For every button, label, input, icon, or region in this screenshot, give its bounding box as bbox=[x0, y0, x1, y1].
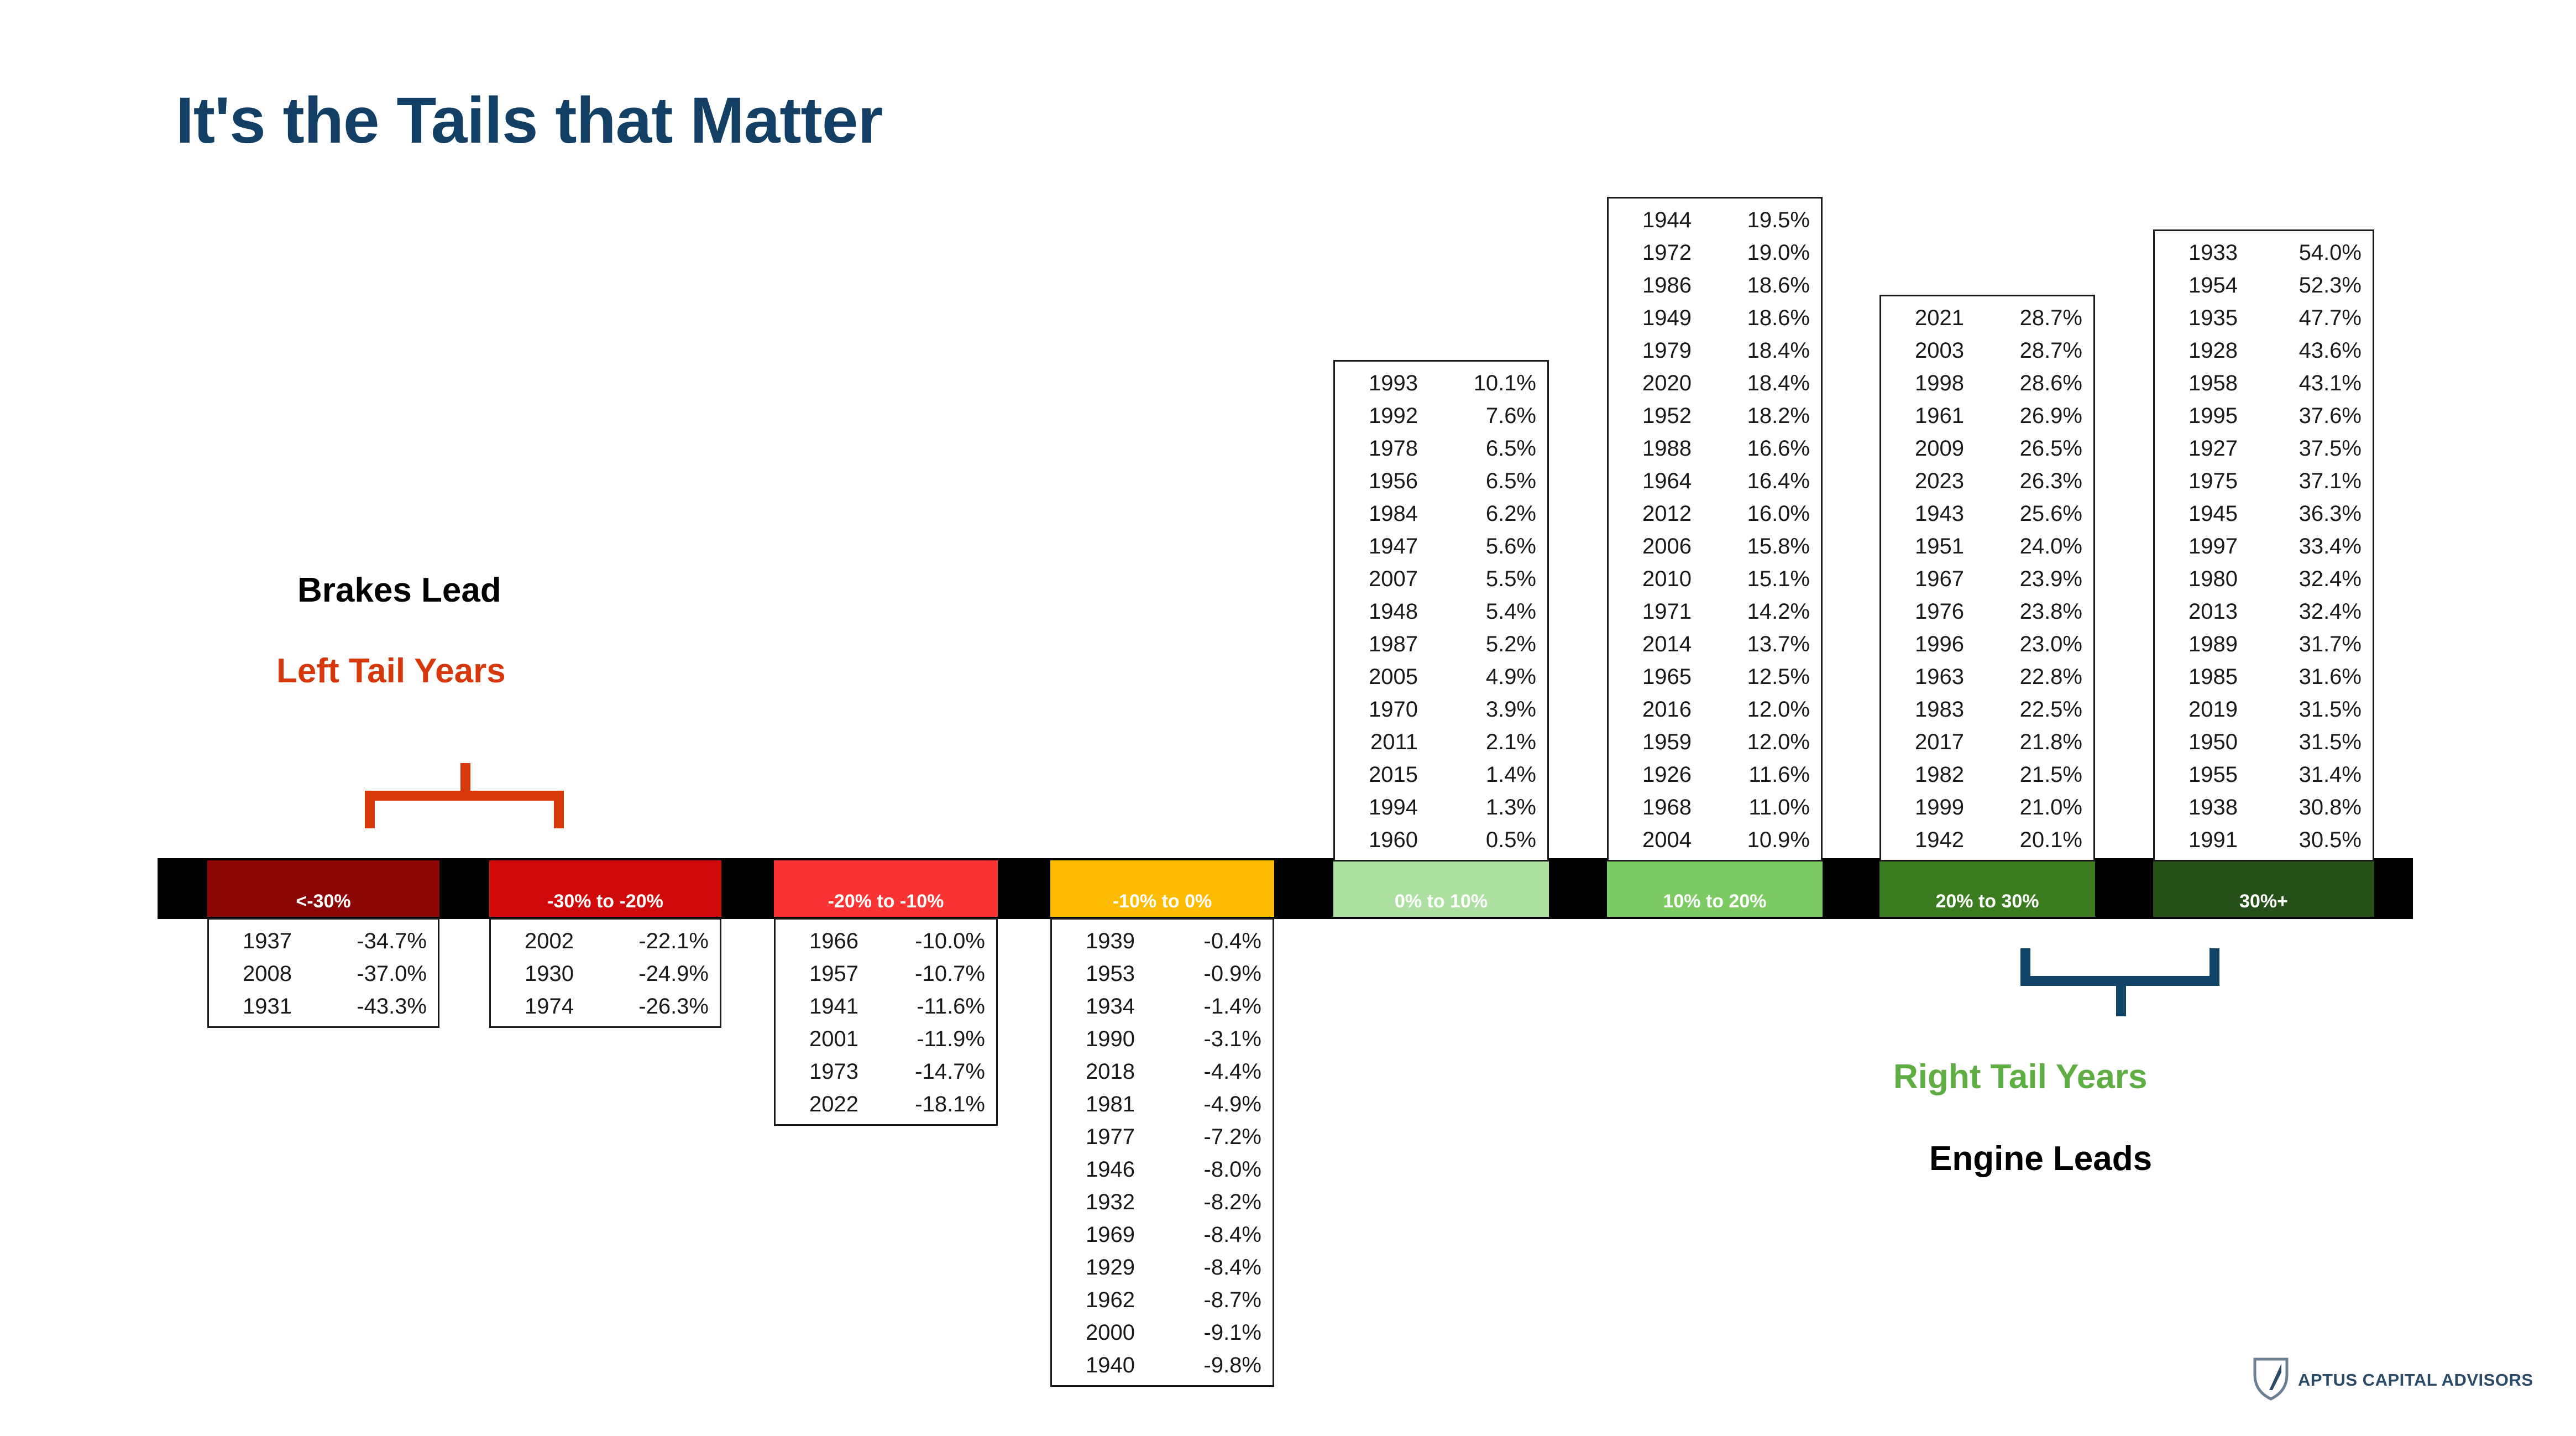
return-cell: 3.9% bbox=[1442, 693, 1536, 726]
list-item: 197537.1% bbox=[2166, 465, 2362, 498]
annotation-left-tail-years: Left Tail Years bbox=[276, 651, 506, 691]
list-item: 20151.4% bbox=[1346, 759, 1536, 791]
list-item: 202018.4% bbox=[1620, 367, 1810, 400]
list-item: 1977-7.2% bbox=[1063, 1121, 1261, 1153]
list-item: 198322.5% bbox=[1892, 693, 2082, 726]
bucket-year-list-6: 194419.5%197219.0%198618.6%194918.6%1979… bbox=[1607, 197, 1823, 861]
list-item: 2008-37.0% bbox=[220, 958, 427, 990]
year-cell: 1930 bbox=[502, 958, 574, 990]
year-cell: 2021 bbox=[1892, 302, 1964, 335]
year-cell: 1979 bbox=[1620, 335, 1692, 367]
year-cell: 2019 bbox=[2166, 693, 2238, 726]
return-cell: -8.4% bbox=[1167, 1251, 1261, 1284]
list-item: 200328.7% bbox=[1892, 335, 2082, 367]
return-cell: 5.5% bbox=[1442, 563, 1536, 596]
return-cell: 23.9% bbox=[1988, 563, 2082, 596]
return-cell: 5.4% bbox=[1442, 596, 1536, 628]
year-cell: 1969 bbox=[1063, 1219, 1135, 1251]
list-item: 201721.8% bbox=[1892, 726, 2082, 759]
year-cell: 2017 bbox=[1892, 726, 1964, 759]
return-cell: 19.0% bbox=[1716, 237, 1810, 269]
year-cell: 1950 bbox=[2166, 726, 2238, 759]
page-title: It's the Tails that Matter bbox=[176, 83, 882, 158]
year-cell: 1973 bbox=[787, 1056, 858, 1088]
year-cell: 1956 bbox=[1346, 465, 1418, 498]
return-cell: -18.1% bbox=[891, 1088, 985, 1121]
list-item: 1969-8.4% bbox=[1063, 1219, 1261, 1251]
year-cell: 1971 bbox=[1620, 596, 1692, 628]
list-item: 1974-26.3% bbox=[502, 990, 709, 1023]
list-item: 19846.2% bbox=[1346, 498, 1536, 530]
year-cell: 1962 bbox=[1063, 1284, 1135, 1317]
return-cell: -22.1% bbox=[615, 925, 709, 958]
year-cell: 1928 bbox=[2166, 335, 2238, 367]
bucket-block-6[interactable]: 10% to 20% bbox=[1607, 860, 1823, 917]
return-cell: 7.6% bbox=[1442, 400, 1536, 432]
list-item: 200615.8% bbox=[1620, 530, 1810, 563]
year-cell: 2023 bbox=[1892, 465, 1964, 498]
return-cell: 10.1% bbox=[1442, 367, 1536, 400]
year-cell: 1982 bbox=[1892, 759, 1964, 791]
return-cell: -14.7% bbox=[891, 1056, 985, 1088]
bucket-block-2[interactable]: -30% to -20% bbox=[489, 860, 721, 917]
list-item: 20075.5% bbox=[1346, 563, 1536, 596]
return-cell: 16.0% bbox=[1716, 498, 1810, 530]
year-cell: 2014 bbox=[1620, 628, 1692, 661]
list-item: 201931.5% bbox=[2166, 693, 2362, 726]
year-cell: 1960 bbox=[1346, 824, 1418, 857]
year-cell: 1985 bbox=[2166, 661, 2238, 693]
return-cell: 15.1% bbox=[1716, 563, 1810, 596]
year-cell: 2002 bbox=[502, 925, 574, 958]
return-cell: 31.6% bbox=[2268, 661, 2362, 693]
return-cell: -8.4% bbox=[1167, 1219, 1261, 1251]
list-item: 1939-0.4% bbox=[1063, 925, 1261, 958]
return-cell: 16.4% bbox=[1716, 465, 1810, 498]
return-cell: 22.5% bbox=[1988, 693, 2082, 726]
return-cell: 18.6% bbox=[1716, 302, 1810, 335]
list-item: 195843.1% bbox=[2166, 367, 2362, 400]
list-item: 201413.7% bbox=[1620, 628, 1810, 661]
list-item: 19875.2% bbox=[1346, 628, 1536, 661]
return-cell: 21.0% bbox=[1988, 791, 2082, 824]
return-cell: 28.7% bbox=[1988, 302, 2082, 335]
year-cell: 1964 bbox=[1620, 465, 1692, 498]
return-cell: 11.0% bbox=[1716, 791, 1810, 824]
year-cell: 1944 bbox=[1620, 204, 1692, 237]
list-item: 20054.9% bbox=[1346, 661, 1536, 693]
year-cell: 1992 bbox=[1346, 400, 1418, 432]
aptus-logo: APTUS CAPITAL ADVISORS bbox=[2253, 1356, 2533, 1404]
list-item: 201015.1% bbox=[1620, 563, 1810, 596]
year-cell: 2012 bbox=[1620, 498, 1692, 530]
year-cell: 2009 bbox=[1892, 432, 1964, 465]
bucket-label: -30% to -20% bbox=[547, 891, 663, 912]
return-cell: -34.7% bbox=[333, 925, 427, 958]
return-cell: 5.2% bbox=[1442, 628, 1536, 661]
list-item: 1946-8.0% bbox=[1063, 1153, 1261, 1186]
list-item: 199130.5% bbox=[2166, 824, 2362, 857]
return-cell: 0.5% bbox=[1442, 824, 1536, 857]
list-item: 195452.3% bbox=[2166, 269, 2362, 302]
return-cell: 31.5% bbox=[2268, 693, 2362, 726]
return-cell: 12.5% bbox=[1716, 661, 1810, 693]
list-item: 194220.1% bbox=[1892, 824, 2082, 857]
return-cell: 30.8% bbox=[2268, 791, 2362, 824]
year-cell: 1941 bbox=[787, 990, 858, 1023]
list-item: 2018-4.4% bbox=[1063, 1056, 1261, 1088]
year-cell: 1984 bbox=[1346, 498, 1418, 530]
return-cell: -26.3% bbox=[615, 990, 709, 1023]
list-item: 193547.7% bbox=[2166, 302, 2362, 335]
return-cell: -1.4% bbox=[1167, 990, 1261, 1023]
list-item: 194419.5% bbox=[1620, 204, 1810, 237]
list-item: 197918.4% bbox=[1620, 335, 1810, 367]
return-cell: 1.3% bbox=[1442, 791, 1536, 824]
bucket-label: 30%+ bbox=[2239, 891, 2288, 912]
return-cell: 21.8% bbox=[1988, 726, 2082, 759]
list-item: 195531.4% bbox=[2166, 759, 2362, 791]
year-cell: 2006 bbox=[1620, 530, 1692, 563]
return-cell: 4.9% bbox=[1442, 661, 1536, 693]
year-cell: 1946 bbox=[1063, 1153, 1135, 1186]
year-cell: 1980 bbox=[2166, 563, 2238, 596]
bucket-block-3[interactable]: -20% to -10% bbox=[774, 860, 998, 917]
year-cell: 1977 bbox=[1063, 1121, 1135, 1153]
return-cell: -0.9% bbox=[1167, 958, 1261, 990]
year-cell: 2013 bbox=[2166, 596, 2238, 628]
list-item: 197219.0% bbox=[1620, 237, 1810, 269]
return-cell: 31.7% bbox=[2268, 628, 2362, 661]
return-cell: 15.8% bbox=[1716, 530, 1810, 563]
return-cell: 54.0% bbox=[2268, 237, 2362, 269]
list-item: 19600.5% bbox=[1346, 824, 1536, 857]
list-item: 19475.6% bbox=[1346, 530, 1536, 563]
list-item: 199733.4% bbox=[2166, 530, 2362, 563]
list-item: 198816.6% bbox=[1620, 432, 1810, 465]
list-item: 196416.4% bbox=[1620, 465, 1810, 498]
return-cell: -8.0% bbox=[1167, 1153, 1261, 1186]
list-item: 192737.5% bbox=[2166, 432, 2362, 465]
year-cell: 1932 bbox=[1063, 1186, 1135, 1219]
bucket-year-list-7: 202128.7%200328.7%199828.6%196126.9%2009… bbox=[1879, 295, 2095, 861]
list-item: 1930-24.9% bbox=[502, 958, 709, 990]
year-cell: 1966 bbox=[787, 925, 858, 958]
year-cell: 1986 bbox=[1620, 269, 1692, 302]
year-cell: 2020 bbox=[1620, 367, 1692, 400]
return-cell: -0.4% bbox=[1167, 925, 1261, 958]
year-cell: 1990 bbox=[1063, 1023, 1135, 1056]
list-item: 198032.4% bbox=[2166, 563, 2362, 596]
year-cell: 1927 bbox=[2166, 432, 2238, 465]
list-item: 194918.6% bbox=[1620, 302, 1810, 335]
list-item: 199828.6% bbox=[1892, 367, 2082, 400]
year-cell: 2016 bbox=[1620, 693, 1692, 726]
year-cell: 1998 bbox=[1892, 367, 1964, 400]
bucket-block-1[interactable]: <-30% bbox=[207, 860, 439, 917]
list-item: 19703.9% bbox=[1346, 693, 1536, 726]
return-cell: 20.1% bbox=[1988, 824, 2082, 857]
bucket-year-list-1: 1937-34.7%2008-37.0%1931-43.3% bbox=[207, 918, 439, 1028]
year-cell: 2018 bbox=[1063, 1056, 1135, 1088]
return-cell: 43.6% bbox=[2268, 335, 2362, 367]
year-cell: 2015 bbox=[1346, 759, 1418, 791]
list-item: 1990-3.1% bbox=[1063, 1023, 1261, 1056]
list-item: 1962-8.7% bbox=[1063, 1284, 1261, 1317]
bucket-label: -20% to -10% bbox=[828, 891, 944, 912]
return-cell: 31.5% bbox=[2268, 726, 2362, 759]
year-cell: 1968 bbox=[1620, 791, 1692, 824]
annotation-engine-leads: Engine Leads bbox=[1929, 1139, 2152, 1178]
year-cell: 2007 bbox=[1346, 563, 1418, 596]
year-cell: 1954 bbox=[2166, 269, 2238, 302]
year-cell: 1993 bbox=[1346, 367, 1418, 400]
year-cell: 1943 bbox=[1892, 498, 1964, 530]
list-item: 198618.6% bbox=[1620, 269, 1810, 302]
list-item: 199921.0% bbox=[1892, 791, 2082, 824]
list-item: 199623.0% bbox=[1892, 628, 2082, 661]
list-item: 201332.4% bbox=[2166, 596, 2362, 628]
year-cell: 1947 bbox=[1346, 530, 1418, 563]
list-item: 1973-14.7% bbox=[787, 1056, 985, 1088]
list-item: 1941-11.6% bbox=[787, 990, 985, 1023]
return-cell: 18.4% bbox=[1716, 335, 1810, 367]
year-cell: 1952 bbox=[1620, 400, 1692, 432]
right-bracket-stem-icon bbox=[2116, 984, 2126, 1016]
year-cell: 1970 bbox=[1346, 693, 1418, 726]
list-item: 1929-8.4% bbox=[1063, 1251, 1261, 1284]
year-cell: 1981 bbox=[1063, 1088, 1135, 1121]
list-item: 202326.3% bbox=[1892, 465, 2082, 498]
return-cell: -43.3% bbox=[333, 990, 427, 1023]
list-item: 2001-11.9% bbox=[787, 1023, 985, 1056]
return-cell: 52.3% bbox=[2268, 269, 2362, 302]
list-item: 2022-18.1% bbox=[787, 1088, 985, 1121]
list-item: 19786.5% bbox=[1346, 432, 1536, 465]
return-cell: 11.6% bbox=[1716, 759, 1810, 791]
list-item: 2000-9.1% bbox=[1063, 1317, 1261, 1349]
return-cell: 33.4% bbox=[2268, 530, 2362, 563]
list-item: 1934-1.4% bbox=[1063, 990, 1261, 1023]
return-cell: 23.8% bbox=[1988, 596, 2082, 628]
shield-icon bbox=[2253, 1356, 2289, 1404]
year-cell: 1958 bbox=[2166, 367, 2238, 400]
year-cell: 1974 bbox=[502, 990, 574, 1023]
list-item: 200926.5% bbox=[1892, 432, 2082, 465]
year-cell: 1988 bbox=[1620, 432, 1692, 465]
list-item: 201612.0% bbox=[1620, 693, 1810, 726]
left-bracket-stem-icon bbox=[460, 763, 470, 795]
bucket-block-8[interactable]: 30%+ bbox=[2153, 860, 2374, 917]
list-item: 197623.8% bbox=[1892, 596, 2082, 628]
return-cell: 1.4% bbox=[1442, 759, 1536, 791]
year-cell: 1967 bbox=[1892, 563, 1964, 596]
return-cell: 10.9% bbox=[1716, 824, 1810, 857]
return-cell: -24.9% bbox=[615, 958, 709, 990]
year-cell: 1991 bbox=[2166, 824, 2238, 857]
list-item: 196322.8% bbox=[1892, 661, 2082, 693]
bucket-year-list-3: 1966-10.0%1957-10.7%1941-11.6%2001-11.9%… bbox=[774, 918, 998, 1126]
return-cell: 13.7% bbox=[1716, 628, 1810, 661]
return-cell: 18.2% bbox=[1716, 400, 1810, 432]
list-item: 194325.6% bbox=[1892, 498, 2082, 530]
year-cell: 1953 bbox=[1063, 958, 1135, 990]
return-cell: 26.3% bbox=[1988, 465, 2082, 498]
list-item: 1957-10.7% bbox=[787, 958, 985, 990]
list-item: 196723.9% bbox=[1892, 563, 2082, 596]
return-cell: 14.2% bbox=[1716, 596, 1810, 628]
return-cell: 37.6% bbox=[2268, 400, 2362, 432]
return-cell: -8.2% bbox=[1167, 1186, 1261, 1219]
list-item: 2002-22.1% bbox=[502, 925, 709, 958]
list-item: 198931.7% bbox=[2166, 628, 2362, 661]
list-item: 192611.6% bbox=[1620, 759, 1810, 791]
bucket-block-5[interactable]: 0% to 10% bbox=[1333, 860, 1549, 917]
year-cell: 2005 bbox=[1346, 661, 1418, 693]
return-cell: 16.6% bbox=[1716, 432, 1810, 465]
list-item: 197114.2% bbox=[1620, 596, 1810, 628]
list-item: 1953-0.9% bbox=[1063, 958, 1261, 990]
year-cell: 2001 bbox=[787, 1023, 858, 1056]
right-bracket-icon bbox=[2020, 948, 2219, 986]
year-cell: 1965 bbox=[1620, 661, 1692, 693]
return-cell: -9.1% bbox=[1167, 1317, 1261, 1349]
year-cell: 1949 bbox=[1620, 302, 1692, 335]
list-item: 196512.5% bbox=[1620, 661, 1810, 693]
list-item: 196126.9% bbox=[1892, 400, 2082, 432]
list-item: 195124.0% bbox=[1892, 530, 2082, 563]
year-cell: 1929 bbox=[1063, 1251, 1135, 1284]
year-cell: 1942 bbox=[1892, 824, 1964, 857]
list-item: 1966-10.0% bbox=[787, 925, 985, 958]
year-cell: 1987 bbox=[1346, 628, 1418, 661]
list-item: 19485.4% bbox=[1346, 596, 1536, 628]
return-cell: 18.6% bbox=[1716, 269, 1810, 302]
list-item: 1981-4.9% bbox=[1063, 1088, 1261, 1121]
list-item: 199310.1% bbox=[1346, 367, 1536, 400]
return-cell: 25.6% bbox=[1988, 498, 2082, 530]
return-cell: -7.2% bbox=[1167, 1121, 1261, 1153]
list-item: 195031.5% bbox=[2166, 726, 2362, 759]
year-cell: 1940 bbox=[1063, 1349, 1135, 1382]
bucket-block-4[interactable]: -10% to 0% bbox=[1050, 860, 1274, 917]
list-item: 19927.6% bbox=[1346, 400, 1536, 432]
list-item: 1931-43.3% bbox=[220, 990, 427, 1023]
bucket-year-list-2: 2002-22.1%1930-24.9%1974-26.3% bbox=[489, 918, 721, 1028]
return-cell: 47.7% bbox=[2268, 302, 2362, 335]
list-item: 198221.5% bbox=[1892, 759, 2082, 791]
return-cell: -8.7% bbox=[1167, 1284, 1261, 1317]
year-cell: 1989 bbox=[2166, 628, 2238, 661]
return-cell: 12.0% bbox=[1716, 726, 1810, 759]
list-item: 196811.0% bbox=[1620, 791, 1810, 824]
bucket-label: 20% to 30% bbox=[1935, 891, 2039, 912]
bucket-year-list-4: 1939-0.4%1953-0.9%1934-1.4%1990-3.1%2018… bbox=[1050, 918, 1274, 1387]
return-cell: 31.4% bbox=[2268, 759, 2362, 791]
bucket-block-7[interactable]: 20% to 30% bbox=[1879, 860, 2095, 917]
year-cell: 1939 bbox=[1063, 925, 1135, 958]
list-item: 195912.0% bbox=[1620, 726, 1810, 759]
return-cell: 6.5% bbox=[1442, 432, 1536, 465]
return-cell: 21.5% bbox=[1988, 759, 2082, 791]
year-cell: 1999 bbox=[1892, 791, 1964, 824]
return-cell: 32.4% bbox=[2268, 596, 2362, 628]
bucket-year-list-8: 193354.0%195452.3%193547.7%192843.6%1958… bbox=[2153, 229, 2374, 861]
bucket-label: 10% to 20% bbox=[1663, 891, 1766, 912]
list-item: 1940-9.8% bbox=[1063, 1349, 1261, 1382]
year-cell: 2008 bbox=[220, 958, 292, 990]
list-item: 200410.9% bbox=[1620, 824, 1810, 857]
annotation-brakes-lead: Brakes Lead bbox=[297, 571, 501, 610]
return-cell: 28.6% bbox=[1988, 367, 2082, 400]
bucket-label: 0% to 10% bbox=[1395, 891, 1488, 912]
return-cell: 37.5% bbox=[2268, 432, 2362, 465]
return-cell: 43.1% bbox=[2268, 367, 2362, 400]
return-cell: 6.2% bbox=[1442, 498, 1536, 530]
year-cell: 1963 bbox=[1892, 661, 1964, 693]
year-cell: 1931 bbox=[220, 990, 292, 1023]
return-cell: -3.1% bbox=[1167, 1023, 1261, 1056]
list-item: 199537.6% bbox=[2166, 400, 2362, 432]
year-cell: 2010 bbox=[1620, 563, 1692, 596]
return-cell: -11.9% bbox=[891, 1023, 985, 1056]
list-item: 193354.0% bbox=[2166, 237, 2362, 269]
year-cell: 1935 bbox=[2166, 302, 2238, 335]
year-cell: 1972 bbox=[1620, 237, 1692, 269]
return-cell: 18.4% bbox=[1716, 367, 1810, 400]
return-cell: -10.7% bbox=[891, 958, 985, 990]
return-cell: 28.7% bbox=[1988, 335, 2082, 367]
return-cell: 36.3% bbox=[2268, 498, 2362, 530]
return-cell: -10.0% bbox=[891, 925, 985, 958]
return-cell: -9.8% bbox=[1167, 1349, 1261, 1382]
year-cell: 1983 bbox=[1892, 693, 1964, 726]
year-cell: 1934 bbox=[1063, 990, 1135, 1023]
return-cell: -4.4% bbox=[1167, 1056, 1261, 1088]
return-cell: -4.9% bbox=[1167, 1088, 1261, 1121]
year-cell: 2000 bbox=[1063, 1317, 1135, 1349]
year-cell: 1975 bbox=[2166, 465, 2238, 498]
return-cell: 37.1% bbox=[2268, 465, 2362, 498]
return-cell: 6.5% bbox=[1442, 465, 1536, 498]
list-item: 195218.2% bbox=[1620, 400, 1810, 432]
list-item: 202128.7% bbox=[1892, 302, 2082, 335]
year-cell: 1997 bbox=[2166, 530, 2238, 563]
return-cell: 23.0% bbox=[1988, 628, 2082, 661]
year-cell: 1978 bbox=[1346, 432, 1418, 465]
list-item: 1937-34.7% bbox=[220, 925, 427, 958]
left-bracket-icon bbox=[365, 791, 564, 828]
year-cell: 1937 bbox=[220, 925, 292, 958]
year-cell: 2004 bbox=[1620, 824, 1692, 857]
year-cell: 1948 bbox=[1346, 596, 1418, 628]
return-cell: 26.9% bbox=[1988, 400, 2082, 432]
year-cell: 1994 bbox=[1346, 791, 1418, 824]
list-item: 193830.8% bbox=[2166, 791, 2362, 824]
return-cell: -37.0% bbox=[333, 958, 427, 990]
year-cell: 1995 bbox=[2166, 400, 2238, 432]
year-cell: 2003 bbox=[1892, 335, 1964, 367]
return-cell: 26.5% bbox=[1988, 432, 2082, 465]
return-cell: 2.1% bbox=[1442, 726, 1536, 759]
year-cell: 2022 bbox=[787, 1088, 858, 1121]
return-cell: 22.8% bbox=[1988, 661, 2082, 693]
year-cell: 1938 bbox=[2166, 791, 2238, 824]
year-cell: 1996 bbox=[1892, 628, 1964, 661]
year-cell: 1961 bbox=[1892, 400, 1964, 432]
year-cell: 1933 bbox=[2166, 237, 2238, 269]
bucket-year-list-5: 199310.1%19927.6%19786.5%19566.5%19846.2… bbox=[1333, 360, 1549, 861]
